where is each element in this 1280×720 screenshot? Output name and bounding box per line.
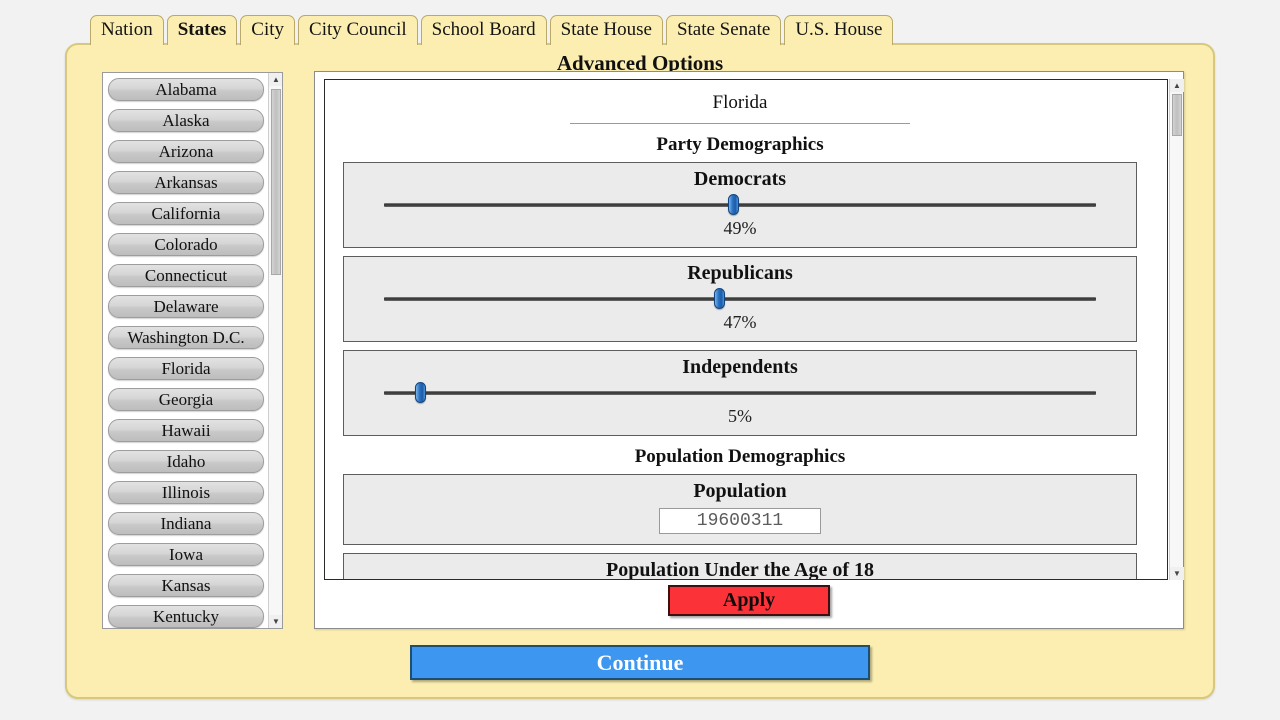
tab-city-council[interactable]: City Council: [298, 15, 418, 45]
slider-thumb[interactable]: [728, 194, 739, 215]
tab-state-house[interactable]: State House: [550, 15, 663, 45]
options-scroll-thumb[interactable]: [1172, 94, 1182, 136]
field-label: Democrats: [344, 168, 1136, 191]
state-button-arkansas[interactable]: Arkansas: [108, 171, 264, 194]
tab-city[interactable]: City: [240, 15, 295, 45]
field-independents: Independents5%: [343, 350, 1137, 436]
options-scroll-down-icon[interactable]: ▼: [1170, 567, 1184, 580]
state-button-arizona[interactable]: Arizona: [108, 140, 264, 163]
states-list-inner: AlabamaAlaskaArizonaArkansasCaliforniaCo…: [103, 73, 270, 628]
field-label: Independents: [344, 356, 1136, 379]
state-button-kansas[interactable]: Kansas: [108, 574, 264, 597]
state-button-illinois[interactable]: Illinois: [108, 481, 264, 504]
field-republicans: Republicans47%: [343, 256, 1137, 342]
field-label: Population: [344, 480, 1136, 503]
options-content-area: FloridaParty DemographicsDemocrats49%Rep…: [314, 71, 1184, 629]
tab-u-s-house[interactable]: U.S. House: [784, 15, 893, 45]
field-label: Population Under the Age of 18: [344, 559, 1136, 580]
state-button-alaska[interactable]: Alaska: [108, 109, 264, 132]
state-button-alabama[interactable]: Alabama: [108, 78, 264, 101]
content-title: Florida: [325, 92, 1155, 114]
continue-button[interactable]: Continue: [410, 645, 870, 680]
state-button-connecticut[interactable]: Connecticut: [108, 264, 264, 287]
states-scroll-down-icon[interactable]: ▼: [269, 615, 283, 628]
tab-states[interactable]: States: [167, 15, 238, 45]
field-value: 5%: [344, 406, 1136, 427]
slider-independents[interactable]: [384, 381, 1096, 403]
population-input[interactable]: 19600311: [659, 508, 821, 534]
state-button-kentucky[interactable]: Kentucky: [108, 605, 264, 628]
field-population-under-the-age-of-18: Population Under the Age of 1820%: [343, 553, 1137, 580]
slider-thumb[interactable]: [714, 288, 725, 309]
title-divider: [570, 123, 910, 124]
field-population: Population19600311: [343, 474, 1137, 545]
state-button-hawaii[interactable]: Hawaii: [108, 419, 264, 442]
options-scrollbar[interactable]: ▲ ▼: [1169, 79, 1183, 580]
state-button-california[interactable]: California: [108, 202, 264, 225]
state-button-iowa[interactable]: Iowa: [108, 543, 264, 566]
slider-track[interactable]: [384, 391, 1096, 395]
field-value: 49%: [344, 218, 1136, 239]
field-value: 47%: [344, 312, 1136, 333]
section-heading: Party Demographics: [325, 134, 1155, 156]
options-scroll-body: FloridaParty DemographicsDemocrats49%Rep…: [325, 80, 1155, 580]
field-democrats: Democrats49%: [343, 162, 1137, 248]
state-button-delaware[interactable]: Delaware: [108, 295, 264, 318]
states-scroll-up-icon[interactable]: ▲: [269, 73, 283, 86]
states-scrollbar[interactable]: ▲ ▼: [268, 73, 282, 628]
tab-bar: NationStatesCityCity CouncilSchool Board…: [90, 15, 893, 45]
section-heading: Population Demographics: [325, 446, 1155, 468]
state-button-colorado[interactable]: Colorado: [108, 233, 264, 256]
state-button-indiana[interactable]: Indiana: [108, 512, 264, 535]
states-list: AlabamaAlaskaArizonaArkansasCaliforniaCo…: [102, 72, 283, 629]
tab-state-senate[interactable]: State Senate: [666, 15, 781, 45]
states-scroll-thumb[interactable]: [271, 89, 281, 275]
slider-track[interactable]: [384, 203, 1096, 207]
tab-school-board[interactable]: School Board: [421, 15, 547, 45]
options-scroll-up-icon[interactable]: ▲: [1170, 79, 1184, 92]
state-button-georgia[interactable]: Georgia: [108, 388, 264, 411]
tab-nation[interactable]: Nation: [90, 15, 164, 45]
field-label: Republicans: [344, 262, 1136, 285]
state-button-washington-d-c[interactable]: Washington D.C.: [108, 326, 264, 349]
options-scroll-area: FloridaParty DemographicsDemocrats49%Rep…: [324, 79, 1168, 580]
state-button-florida[interactable]: Florida: [108, 357, 264, 380]
apply-button[interactable]: Apply: [668, 585, 830, 616]
app-root: NationStatesCityCity CouncilSchool Board…: [0, 0, 1280, 720]
slider-republicans[interactable]: [384, 287, 1096, 309]
slider-track[interactable]: [384, 297, 1096, 301]
slider-democrats[interactable]: [384, 193, 1096, 215]
state-button-idaho[interactable]: Idaho: [108, 450, 264, 473]
slider-thumb[interactable]: [415, 382, 426, 403]
